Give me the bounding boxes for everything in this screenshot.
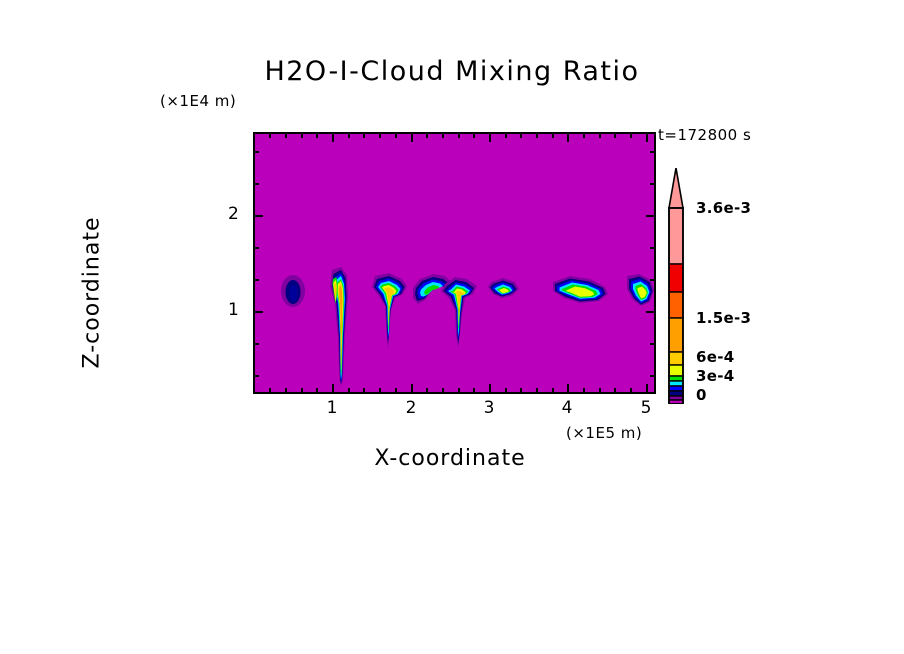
- x-axis-title-text: X-coordinate: [374, 446, 525, 471]
- y-tick-right-major: [646, 215, 656, 217]
- x-tick-top-minor: [505, 132, 507, 138]
- x-tick-top-minor: [363, 132, 365, 138]
- colorbar-svg: [667, 168, 685, 404]
- x-tick-minor: [505, 388, 507, 394]
- x-tick-minor: [520, 388, 522, 394]
- colorbar-label: 3.6e-3: [696, 199, 751, 217]
- x-tick-label: 3: [484, 398, 495, 418]
- x-tick-minor: [599, 388, 601, 394]
- x-tick-minor: [395, 388, 397, 394]
- timestamp-annotation: t=172800 s: [658, 126, 751, 144]
- x-tick-top-minor: [458, 132, 460, 138]
- x-tick-minor: [301, 388, 303, 394]
- y-tick-right-minor: [650, 183, 656, 185]
- contour-plot-area: [253, 132, 656, 394]
- y-tick-minor: [253, 343, 259, 345]
- colorbar: [667, 168, 685, 404]
- y-tick-right-major: [646, 311, 656, 313]
- y-tick-minor: [253, 375, 259, 377]
- x-tick-minor: [285, 388, 287, 394]
- x-tick-top-major: [411, 132, 413, 142]
- x-axis-title: X-coordinate: [0, 446, 904, 471]
- x-tick-minor: [552, 388, 554, 394]
- x-tick-top-minor: [520, 132, 522, 138]
- colorbar-arrow-icon: [669, 168, 683, 208]
- y-axis-unit-label: (×1E4 m): [160, 92, 236, 110]
- x-tick-label: 4: [562, 398, 573, 418]
- page-title: H2O-I-Cloud Mixing Ratio: [0, 56, 904, 87]
- x-tick-top-minor: [552, 132, 554, 138]
- x-tick-major: [411, 384, 413, 394]
- x-tick-top-minor: [473, 132, 475, 138]
- x-tick-minor: [316, 388, 318, 394]
- feature-blob-1: [281, 275, 305, 307]
- x-tick-minor: [583, 388, 585, 394]
- x-tick-minor: [473, 388, 475, 394]
- x-tick-top-minor: [426, 132, 428, 138]
- y-axis-title: Z-coordinate: [80, 193, 105, 393]
- y-tick-major: [253, 215, 263, 217]
- x-tick-major: [332, 384, 334, 394]
- x-tick-top-minor: [583, 132, 585, 138]
- x-tick-top-minor: [395, 132, 397, 138]
- colorbar-label: 1.5e-3: [696, 309, 751, 327]
- x-tick-top-minor: [614, 132, 616, 138]
- x-tick-top-major: [567, 132, 569, 142]
- x-tick-major: [646, 384, 648, 394]
- x-tick-minor: [379, 388, 381, 394]
- colorbar-label: 0: [696, 386, 707, 404]
- x-tick-label: 2: [406, 398, 417, 418]
- y-tick-right-minor: [650, 375, 656, 377]
- y-tick-minor: [253, 183, 259, 185]
- x-tick-minor: [269, 388, 271, 394]
- x-tick-top-minor: [379, 132, 381, 138]
- x-tick-top-minor: [442, 132, 444, 138]
- x-tick-minor: [442, 388, 444, 394]
- x-tick-top-minor: [285, 132, 287, 138]
- x-tick-top-major: [489, 132, 491, 142]
- y-tick-minor: [253, 279, 259, 281]
- y-tick-label: 2: [228, 204, 239, 224]
- x-tick-top-major: [332, 132, 334, 142]
- y-tick-right-minor: [650, 343, 656, 345]
- x-tick-top-minor: [301, 132, 303, 138]
- x-tick-minor: [614, 388, 616, 394]
- x-tick-label: 1: [327, 398, 338, 418]
- x-tick-label: 5: [641, 398, 652, 418]
- y-tick-right-minor: [650, 247, 656, 249]
- x-tick-major: [567, 384, 569, 394]
- x-tick-top-minor: [269, 132, 271, 138]
- x-tick-top-minor: [536, 132, 538, 138]
- y-tick-right-minor: [650, 279, 656, 281]
- x-axis-unit-label: (×1E5 m): [566, 424, 642, 442]
- y-tick-minor: [253, 151, 259, 153]
- y-tick-label: 1: [228, 300, 239, 320]
- y-tick-minor: [253, 247, 259, 249]
- x-tick-minor: [536, 388, 538, 394]
- x-tick-minor: [348, 388, 350, 394]
- x-tick-minor: [630, 388, 632, 394]
- contour-svg: [255, 134, 654, 392]
- x-tick-minor: [426, 388, 428, 394]
- colorbar-label: 6e-4: [696, 348, 734, 366]
- contour-field: [255, 134, 654, 392]
- x-tick-minor: [363, 388, 365, 394]
- y-tick-major: [253, 311, 263, 313]
- x-tick-top-minor: [599, 132, 601, 138]
- x-tick-top-minor: [316, 132, 318, 138]
- colorbar-label: 3e-4: [696, 367, 734, 385]
- y-tick-right-minor: [650, 151, 656, 153]
- x-tick-top-minor: [348, 132, 350, 138]
- x-tick-major: [489, 384, 491, 394]
- x-tick-top-minor: [630, 132, 632, 138]
- x-tick-minor: [458, 388, 460, 394]
- x-tick-top-major: [646, 132, 648, 142]
